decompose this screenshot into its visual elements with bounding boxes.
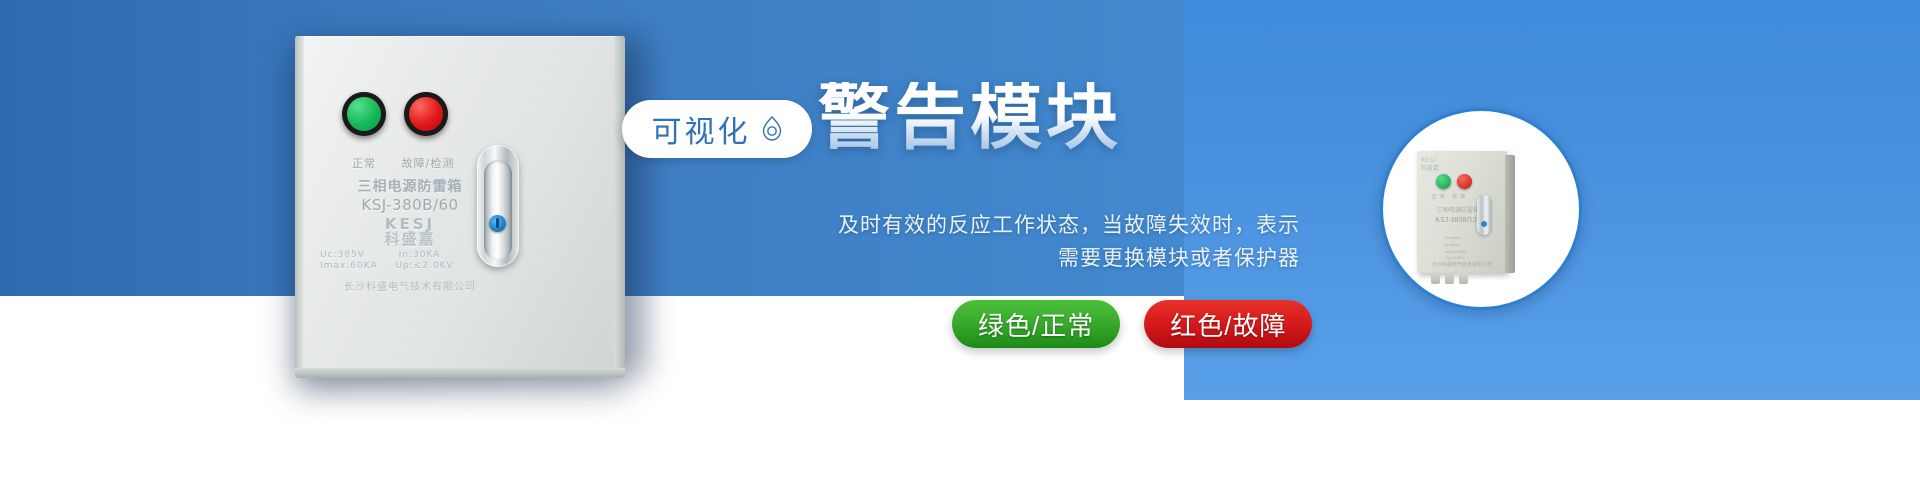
cabinet-right-edge — [614, 36, 625, 378]
status-badge-group: 绿色/正常 红色/故障 — [952, 300, 1312, 348]
inset-spec-up: Up:≤2.0KV — [1445, 255, 1464, 260]
inset-cable-gland-2 — [1445, 271, 1454, 284]
inset-keyhole-icon — [1481, 221, 1487, 227]
panel-model-number: KSJ-380B/60 — [320, 196, 500, 214]
banner-subtitle: 及时有效的反应工作状态，当故障失效时，表示 需要更换模块或者保护器 — [620, 210, 1300, 275]
panel-product-title: 三相电源防雷箱 — [320, 176, 500, 196]
cabinet-handle-grip — [484, 160, 512, 260]
inset-cabinet-side — [1505, 155, 1515, 273]
inset-cable-gland-3 — [1459, 271, 1468, 284]
visualization-pill-badge: 可视化 — [622, 100, 812, 158]
eye-location-icon — [761, 116, 783, 142]
inset-device-photo: KESJ 科盛嘉 正常 故障 三相电源防雷箱 KSJ-380B/120 Uc:3… — [1380, 108, 1582, 310]
visualization-pill-label: 可视化 — [652, 107, 751, 151]
cabinet-bottom-edge — [295, 368, 625, 378]
inset-company-name: 长沙科盛电气技术有限公司 — [1421, 261, 1503, 268]
subtitle-line-2: 需要更换模块或者保护器 — [620, 243, 1300, 276]
page-title: 警告模块 — [818, 82, 1122, 154]
promo-banner: 正常 故障/检测 三相电源防雷箱 KSJ-380B/60 KESJ 科盛嘉 Uc… — [0, 0, 1920, 500]
inset-spec-in: In:60KA — [1445, 242, 1459, 247]
inset-brand-label: KESJ 科盛嘉 — [1421, 157, 1461, 174]
background-right-white — [1184, 400, 1920, 500]
inset-spec-block: Uc:385V In:60KA Imax:120KA Up:≤2.0KV — [1445, 235, 1485, 262]
panel-company-name: 长沙科盛电气技术有限公司 — [300, 278, 520, 293]
status-badge-normal[interactable]: 绿色/正常 — [952, 300, 1120, 348]
green-led-indicator — [342, 92, 386, 136]
cabinet-keyhole-icon — [489, 215, 506, 232]
spec-in: In:30KA — [399, 250, 441, 260]
red-led-indicator — [404, 92, 448, 136]
spec-imax: Imax:60KA — [320, 261, 378, 271]
inset-cable-gland-1 — [1431, 271, 1440, 284]
inset-door-handle — [1477, 195, 1491, 235]
inset-spec-uc: Uc:385V — [1445, 235, 1460, 240]
inset-brand-chinese: 科盛嘉 — [1421, 166, 1439, 172]
cabinet-left-edge — [295, 36, 304, 376]
panel-spec-row-2: Imax:60KA Up:≤2.0KV — [320, 261, 510, 271]
spec-up: Up:≤2.0KV — [395, 261, 453, 271]
inset-green-led — [1436, 174, 1451, 189]
panel-label-fault: 故障/检测 — [388, 155, 468, 171]
subtitle-line-1: 及时有效的反应工作状态，当故障失效时，表示 — [620, 210, 1300, 243]
inset-red-led — [1457, 174, 1472, 189]
panel-brand-chinese: 科盛嘉 — [320, 228, 500, 249]
inset-led-labels: 正常 故障 — [1427, 193, 1473, 200]
status-badge-fault[interactable]: 红色/故障 — [1144, 300, 1312, 348]
inset-spec-imax: Imax:120KA — [1445, 249, 1467, 254]
inset-brand-latin: KESJ — [1421, 158, 1436, 164]
spec-uc: Uc:385V — [320, 250, 365, 260]
